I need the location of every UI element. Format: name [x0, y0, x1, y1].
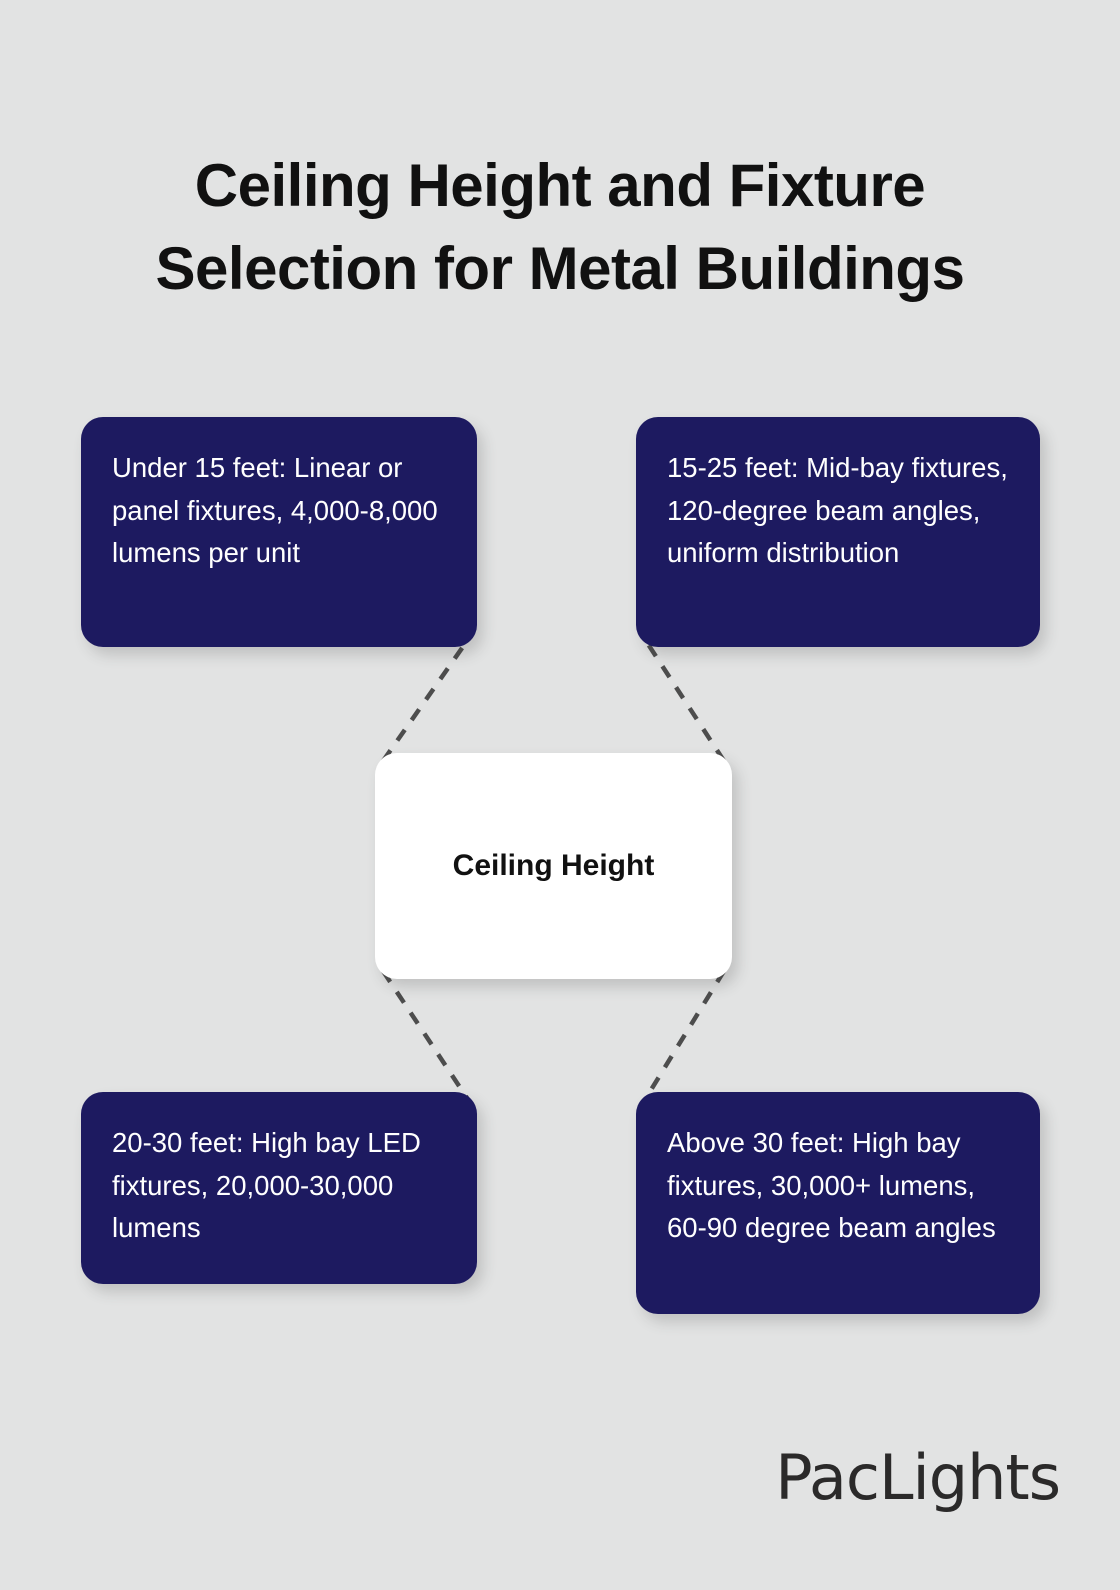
branch-card-bottom-left[interactable]: 20-30 feet: High bay LED fixtures, 20,00…	[81, 1092, 477, 1284]
branch-card-bottom-right[interactable]: Above 30 feet: High bay fixtures, 30,000…	[636, 1092, 1040, 1314]
branch-card-top-right[interactable]: 15-25 feet: Mid-bay fixtures, 120-degree…	[636, 417, 1040, 647]
infographic-root: Ceiling Height and Fixture Selection for…	[0, 0, 1120, 1590]
center-node-label: Ceiling Height	[453, 849, 655, 883]
connector-bottom-right	[646, 971, 724, 1098]
connector-top-left	[383, 641, 467, 761]
branch-card-text: 20-30 feet: High bay LED fixtures, 20,00…	[112, 1122, 447, 1250]
branch-card-text: 15-25 feet: Mid-bay fixtures, 120-degree…	[667, 447, 1010, 575]
branch-card-text: Above 30 feet: High bay fixtures, 30,000…	[667, 1122, 1010, 1250]
branch-card-text: Under 15 feet: Linear or panel fixtures,…	[112, 447, 447, 575]
paclights-logo: PacLights	[775, 1441, 1060, 1514]
branch-card-top-left[interactable]: Under 15 feet: Linear or panel fixtures,…	[81, 417, 477, 647]
connector-top-right	[646, 641, 724, 761]
center-node[interactable]: Ceiling Height	[375, 753, 732, 979]
connector-bottom-left	[383, 971, 467, 1098]
